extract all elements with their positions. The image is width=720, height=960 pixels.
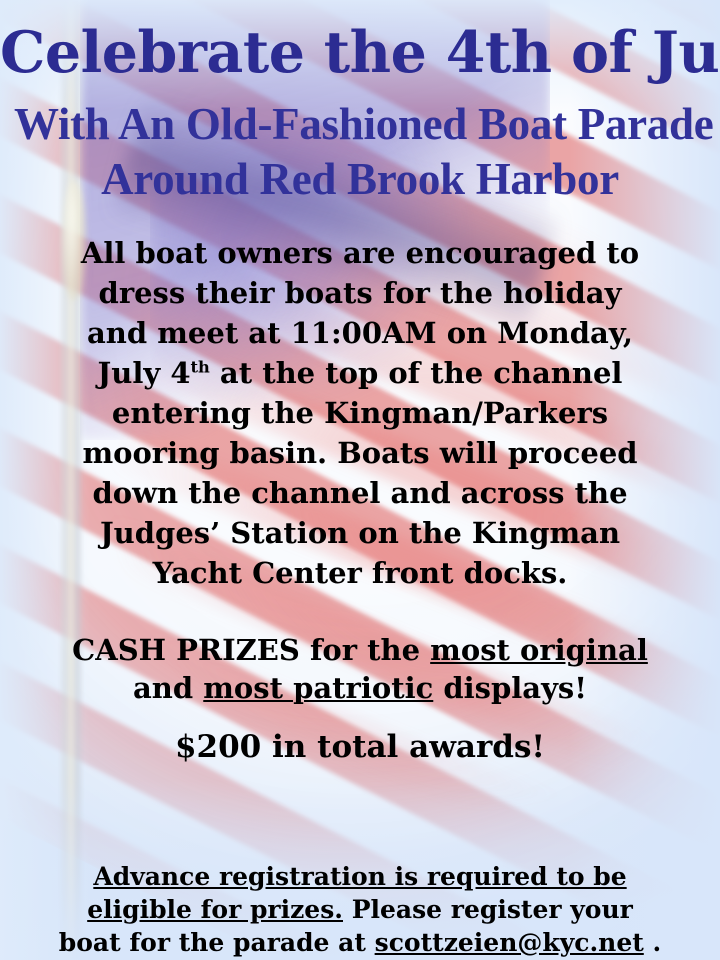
prizes-line-1: CASH PRIZES for the most original bbox=[0, 631, 720, 669]
body-line-1: All boat owners are encouraged to bbox=[44, 233, 676, 273]
body-paragraph: All boat owners are encouraged to dress … bbox=[0, 233, 720, 593]
prizes-line-2-suffix: displays! bbox=[433, 671, 587, 705]
body-line-4-date: July 4th at the top of the channel bbox=[44, 353, 676, 393]
footer-line-3: boat for the parade at scottzeien@kyc.ne… bbox=[0, 926, 720, 959]
prizes-line-1-prefix: CASH PRIZES for the bbox=[72, 633, 430, 667]
body-line-3: and meet at 11:00AM on Monday, bbox=[44, 313, 676, 353]
body-date-superscript: th bbox=[191, 357, 210, 376]
body-date-prefix: July 4 bbox=[98, 356, 191, 390]
prizes-most-patriotic: most patriotic bbox=[203, 671, 433, 705]
body-line-9: Yacht Center front docks. bbox=[44, 553, 676, 593]
subtitle-line-2: Around Red Brook Harbor bbox=[14, 152, 706, 207]
footer-line-1: Advance registration is required to be bbox=[0, 860, 720, 893]
footer-line-2-suffix: Please register your bbox=[343, 895, 633, 924]
body-line-8: Judges’ Station on the Kingman bbox=[44, 513, 676, 553]
body-line-2: dress their boats for the holiday bbox=[44, 273, 676, 313]
footer-advance-registration: Advance registration is required to be bbox=[93, 862, 626, 891]
cash-prizes-block: CASH PRIZES for the most original and mo… bbox=[0, 631, 720, 707]
body-line-7: down the channel and across the bbox=[44, 473, 676, 513]
page-subtitle: With An Old-Fashioned Boat Parade Around… bbox=[0, 97, 720, 207]
footer-eligible-for-prizes: eligible for prizes. bbox=[87, 895, 343, 924]
contact-email-link[interactable]: scottzeien@kyc.net bbox=[375, 928, 644, 957]
body-line-5: entering the Kingman/Parkers bbox=[44, 393, 676, 433]
footer-line-2: eligible for prizes. Please register you… bbox=[0, 893, 720, 926]
total-awards-text: $200 in total awards! bbox=[0, 729, 720, 765]
footer-line-3-prefix: boat for the parade at bbox=[59, 928, 375, 957]
registration-footer: Advance registration is required to be e… bbox=[0, 860, 720, 959]
body-line-6: mooring basin. Boats will proceed bbox=[44, 433, 676, 473]
flyer-poster: Celebrate the 4th of July With An Old-Fa… bbox=[0, 0, 720, 960]
prizes-line-2: and most patriotic displays! bbox=[0, 669, 720, 707]
subtitle-line-1: With An Old-Fashioned Boat Parade bbox=[14, 97, 706, 152]
prizes-most-original: most original bbox=[430, 633, 648, 667]
flyer-content: Celebrate the 4th of July With An Old-Fa… bbox=[0, 0, 720, 960]
page-title: Celebrate the 4th of July bbox=[0, 0, 720, 81]
prizes-line-2-prefix: and bbox=[133, 671, 203, 705]
footer-line-3-suffix: . bbox=[644, 928, 661, 957]
body-date-suffix: at the top of the channel bbox=[210, 356, 623, 390]
